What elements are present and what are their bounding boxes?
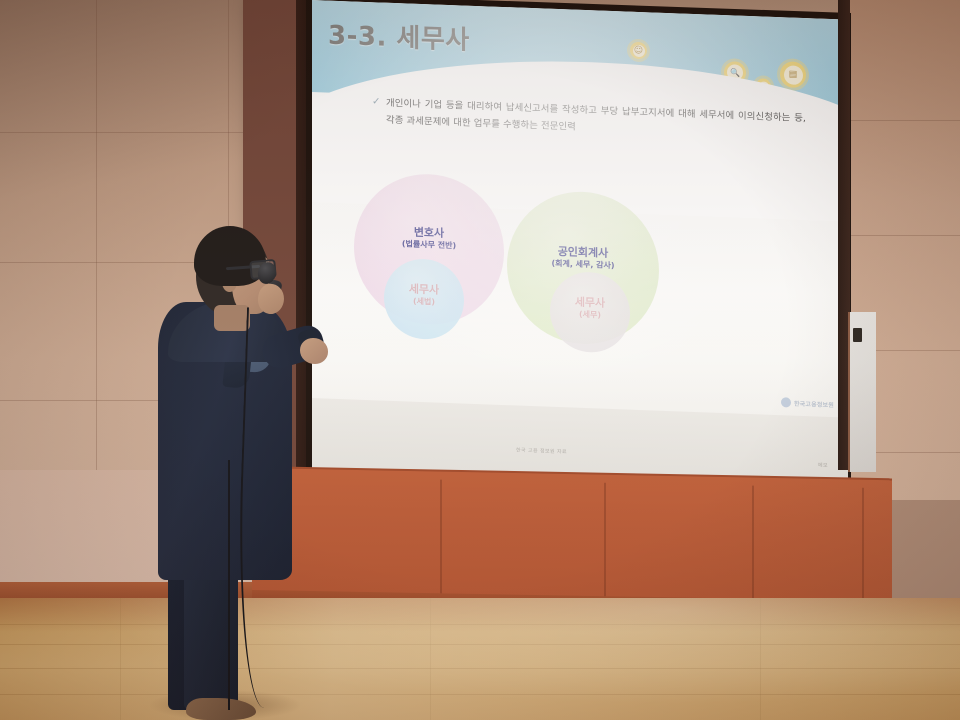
person-badge-icon: ☺	[630, 42, 647, 60]
badge-glyph: ▤	[789, 69, 798, 79]
panel-seam	[862, 488, 864, 610]
logo-text: 한국고용정보원	[794, 398, 834, 408]
wall-seam	[850, 235, 960, 236]
screen-note-right: 메모	[818, 463, 828, 471]
light-switch-icon[interactable]	[853, 328, 862, 342]
panel-seam	[440, 480, 442, 602]
presentation-slide: ☺ 🔍 ▣ ▤ 3-3. 세무사 ✓	[312, 0, 848, 420]
panel-seam	[752, 486, 754, 608]
slide-title: 3-3. 세무사	[328, 15, 470, 57]
panel-seam	[604, 483, 606, 605]
lecture-hall-photo: ☺ 🔍 ▣ ▤ 3-3. 세무사 ✓	[0, 0, 960, 720]
circle-cpa-inner-label: 세무사 (세무)	[550, 295, 630, 323]
document-badge-icon: ▤	[780, 61, 806, 88]
floor-sheen	[0, 598, 960, 720]
check-icon: ✓	[372, 96, 380, 107]
presenter-neck	[214, 305, 250, 331]
wooden-floor	[0, 598, 960, 720]
circle-lawyer-inner-label: 세무사 (세법)	[384, 282, 464, 310]
screen-note-left: 한국 고용 정보원 자료	[516, 447, 567, 456]
wall-seam	[850, 120, 960, 121]
badge-glyph: ☺	[634, 45, 643, 55]
presenter-hand	[300, 338, 328, 364]
wall-seam	[96, 0, 97, 470]
microphone-cable-lower	[228, 460, 254, 710]
projection-screen[interactable]: ☺ 🔍 ▣ ▤ 3-3. 세무사 ✓	[312, 0, 848, 498]
organization-logo: 한국고용정보원	[781, 397, 834, 409]
stage-front-paneling	[252, 468, 892, 612]
logo-mark-icon	[781, 397, 791, 407]
